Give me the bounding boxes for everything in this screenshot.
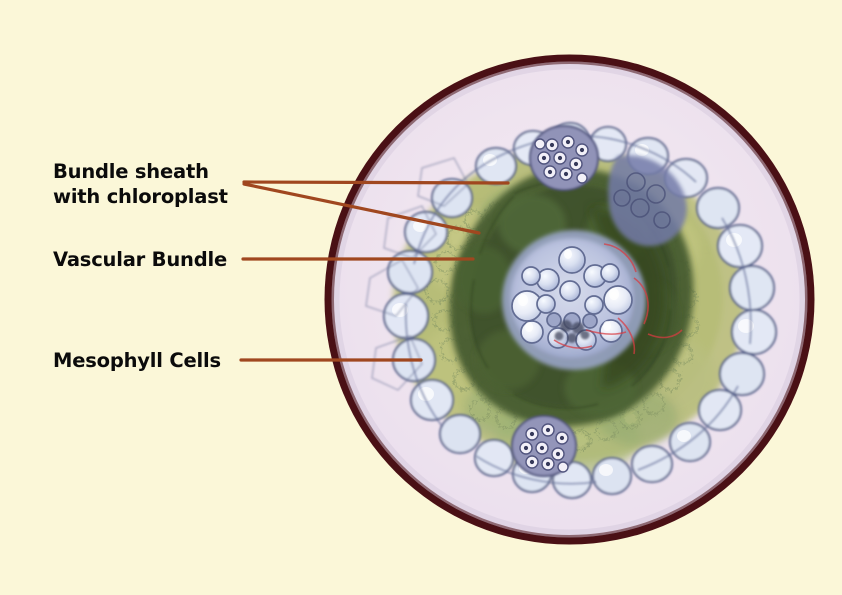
micrograph-svg [318, 48, 821, 551]
label-mesophyll-cells: Mesophyll Cells [53, 349, 221, 374]
micrograph-circle [318, 48, 821, 551]
label-bundle-sheath-line1: Bundle sheath [53, 160, 209, 183]
label-bundle-sheath: Bundle sheathwith chloroplast [53, 160, 228, 209]
label-vascular-bundle: Vascular Bundle [53, 248, 227, 273]
micrograph-content [318, 48, 821, 551]
micrograph-figure: Bundle sheathwith chloroplast Vascular B… [0, 0, 842, 595]
label-bundle-sheath-line2: with chloroplast [53, 185, 228, 208]
